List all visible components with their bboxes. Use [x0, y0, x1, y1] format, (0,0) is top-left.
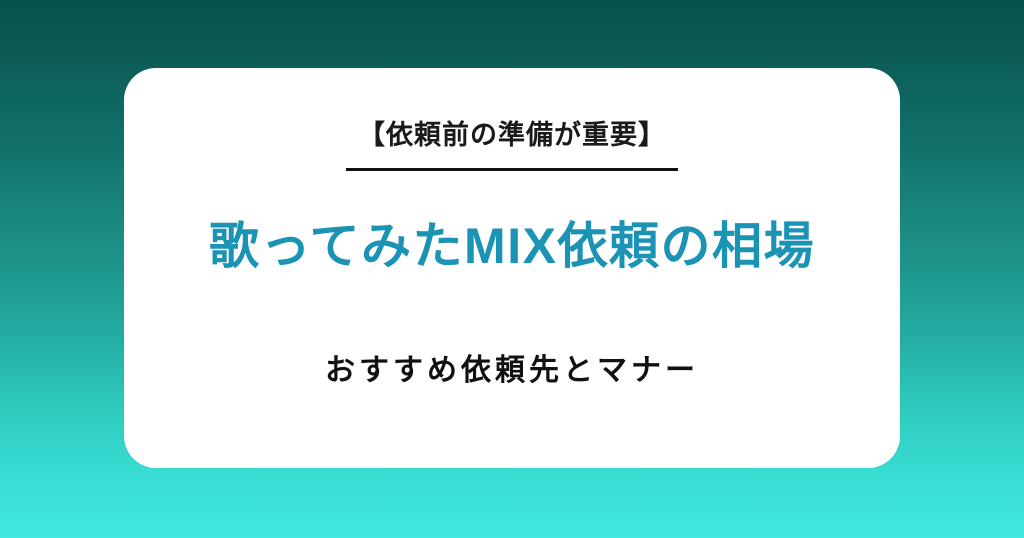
card-content-stack: 【依頼前の準備が重要】 歌ってみたMIX依頼の相場 おすすめ依頼先とマナー [124, 68, 900, 468]
page-title: 歌ってみたMIX依頼の相場 [209, 218, 815, 276]
kicker-text: 【依頼前の準備が重要】 [358, 119, 666, 151]
eyecatch-banner: 【依頼前の準備が重要】 歌ってみたMIX依頼の相場 おすすめ依頼先とマナー [0, 0, 1024, 538]
content-card: 【依頼前の準備が重要】 歌ってみたMIX依頼の相場 おすすめ依頼先とマナー [124, 68, 900, 468]
page-subtitle: おすすめ依頼先とマナー [325, 353, 699, 389]
kicker-underline-divider [346, 168, 678, 171]
kicker-block: 【依頼前の準備が重要】 [346, 119, 678, 171]
